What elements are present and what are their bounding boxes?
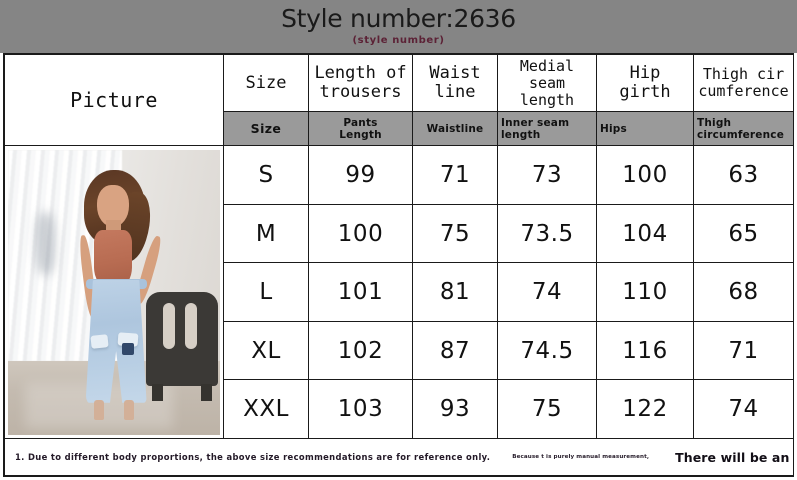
cell-waistline: 93 xyxy=(413,380,498,439)
header-medial-line1: Medial xyxy=(520,57,574,75)
cell-thigh-circumference: 68 xyxy=(694,263,794,322)
size-table: Picture Size Length of trousers Waist li… xyxy=(4,54,794,476)
footer-note-cell: 1. Due to different body proportions, th… xyxy=(5,439,794,476)
photo-chair-cutout-right xyxy=(185,303,197,348)
cell-inner-seam-length: 73.5 xyxy=(498,204,597,263)
header-length-line2: trousers xyxy=(320,82,402,102)
model-shoe-left xyxy=(94,400,104,420)
cell-hips: 122 xyxy=(597,380,694,439)
header-length-of-trousers: Length of trousers xyxy=(309,55,413,112)
footer-note-2: Because t is purely manual measurement, xyxy=(512,454,649,460)
cell-hips: 100 xyxy=(597,146,694,205)
header-thigh-circumference: Thigh cir cumference xyxy=(694,55,794,112)
subheader-thigh-circumference: Thigh circumference xyxy=(694,112,794,146)
header-picture: Picture xyxy=(5,55,224,146)
cell-pants-length: 102 xyxy=(309,321,413,380)
header-size-line1: Size xyxy=(246,73,287,93)
subheader-hips: Hips xyxy=(597,112,694,146)
table-row: S 99 71 73 100 63 xyxy=(5,146,794,205)
cell-inner-seam-length: 75 xyxy=(498,380,597,439)
cell-pants-length: 100 xyxy=(309,204,413,263)
photo-chair-leg-right xyxy=(201,384,213,401)
model-jeans-rip-shadow xyxy=(122,343,134,356)
cell-pants-length: 99 xyxy=(309,146,413,205)
page-title: Style number:2636 xyxy=(0,4,797,33)
footer-row: 1. Due to different body proportions, th… xyxy=(5,439,794,476)
header-medial-seam-length: Medial seam length xyxy=(498,55,597,112)
header-medial-line2: seam length xyxy=(520,74,574,109)
cell-thigh-circumference: 65 xyxy=(694,204,794,263)
photo-scene xyxy=(8,150,220,435)
cell-pants-length: 101 xyxy=(309,263,413,322)
photo-model xyxy=(65,170,167,421)
product-photo xyxy=(8,150,220,435)
footer-note-inner: 1. Due to different body proportions, th… xyxy=(11,450,787,465)
subheader-pants-line1: Pants xyxy=(343,117,377,129)
model-jeans-rip-left xyxy=(90,334,109,348)
cell-inner-seam-length: 74 xyxy=(498,263,597,322)
subheader-pants-line2: Length xyxy=(339,129,382,141)
header-thigh-line1: Thigh cir xyxy=(703,65,784,83)
photo-curtain-shadow xyxy=(36,212,55,275)
header-hip-line1: Hip xyxy=(630,63,661,83)
header-hip-girth: Hip girth xyxy=(597,55,694,112)
subheader-thigh-line1: Thigh xyxy=(697,117,731,129)
cell-waistline: 75 xyxy=(413,204,498,263)
cell-hips: 110 xyxy=(597,263,694,322)
subheader-size-line1: Size xyxy=(251,121,282,136)
cell-hips: 104 xyxy=(597,204,694,263)
subheader-inner-seam-length: Inner seam length xyxy=(498,112,597,146)
subheader-inner-line2: length xyxy=(501,129,540,141)
cell-inner-seam-length: 73 xyxy=(498,146,597,205)
header-length-line1: Length of xyxy=(314,63,406,83)
cell-thigh-circumference: 71 xyxy=(694,321,794,380)
subheader-inner-line1: Inner seam xyxy=(501,117,569,129)
size-chart-page: Style number:2636 (style number) Picture… xyxy=(0,0,797,480)
page-subtitle: (style number) xyxy=(0,35,797,46)
size-table-container: Picture Size Length of trousers Waist li… xyxy=(3,53,794,477)
cell-waistline: 81 xyxy=(413,263,498,322)
cell-hips: 116 xyxy=(597,321,694,380)
header-waist-line: Waist line xyxy=(413,55,498,112)
header-row-primary: Picture Size Length of trousers Waist li… xyxy=(5,55,794,112)
product-photo-cell xyxy=(5,146,224,439)
header-waist-line2: line xyxy=(435,82,476,102)
cell-pants-length: 103 xyxy=(309,380,413,439)
subheader-size: Size xyxy=(224,112,309,146)
subheader-thigh-line2: circumference xyxy=(697,129,784,141)
subheader-hips-line1: Hips xyxy=(600,123,627,135)
model-shoe-right xyxy=(124,400,134,420)
header-thigh-line2: cumference xyxy=(698,82,788,100)
cell-size: XL xyxy=(224,321,309,380)
subheader-pants-length: Pants Length xyxy=(309,112,413,146)
footer-note-3: There will be an error of 2~3CM. xyxy=(675,450,793,465)
footer-note-1: 1. Due to different body proportions, th… xyxy=(11,452,490,462)
cell-size: XXL xyxy=(224,380,309,439)
cell-waistline: 87 xyxy=(413,321,498,380)
cell-size: S xyxy=(224,146,309,205)
cell-size: L xyxy=(224,263,309,322)
header-size: Size xyxy=(224,55,309,112)
subheader-waistline: Waistline xyxy=(413,112,498,146)
header-waist-line1: Waist xyxy=(429,63,480,83)
header-hip-line2: girth xyxy=(619,82,670,102)
cell-thigh-circumference: 74 xyxy=(694,380,794,439)
cell-thigh-circumference: 63 xyxy=(694,146,794,205)
title-banner: Style number:2636 (style number) xyxy=(0,0,797,53)
cell-inner-seam-length: 74.5 xyxy=(498,321,597,380)
cell-waistline: 71 xyxy=(413,146,498,205)
cell-size: M xyxy=(224,204,309,263)
subheader-waistline-line1: Waistline xyxy=(427,123,484,135)
